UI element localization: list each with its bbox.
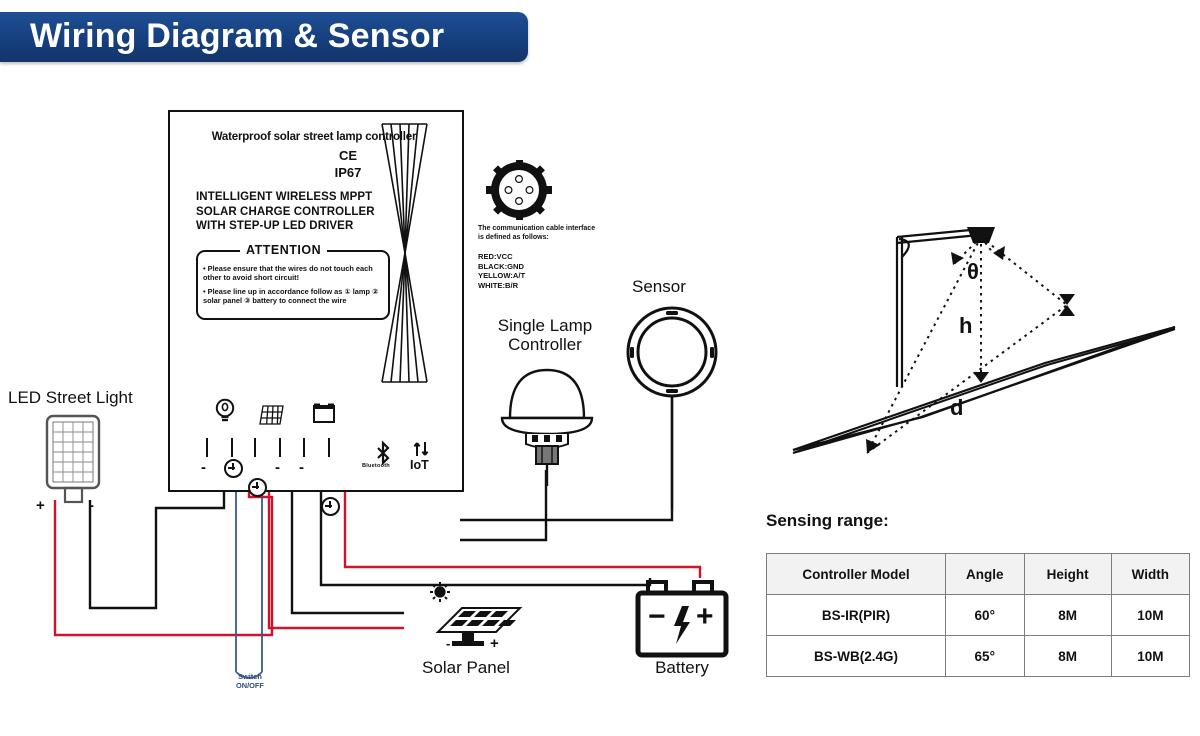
height-symbol: h [959,313,972,338]
column-header-height: Height [1024,554,1111,595]
column-header-angle: Angle [946,554,1025,595]
twisted-cable-illustration [378,122,432,384]
led-street-light-label: LED Street Light [8,388,133,408]
iot-arrows-icon [412,441,432,457]
svg-text:−: − [648,600,666,633]
angle-symbol: θ [967,259,979,284]
lamp-icon [212,398,238,424]
column-header-width: Width [1111,554,1189,595]
single-lamp-controller-label: Single Lamp Controller [480,316,610,354]
svg-text:+: + [490,635,499,652]
cell-height: 8M [1024,636,1111,677]
distance-symbol: d [950,395,963,420]
table-row: BS-IR(PIR) 60° 8M 10M [767,595,1190,636]
led-positive-sign: + [36,497,45,514]
lamp-negative-sign: - [201,463,206,473]
table-row: BS-WB(2.4G) 65° 8M 10M [767,636,1190,677]
bluetooth-glyph [374,442,392,464]
cell-angle: 65° [946,636,1025,677]
solar-panel-illustration: - + [404,582,526,660]
battery-negative-sign: - [299,463,304,473]
battery-icon [311,400,337,426]
svg-text:+: + [696,600,714,633]
terminal-pin [328,438,330,457]
solar-panel-label: Solar Panel [404,658,528,678]
cell-model: BS-IR(PIR) [767,595,946,636]
cell-width: 10M [1111,636,1189,677]
cell-angle: 60° [946,595,1025,636]
sensing-range-diagram: θ h d [775,205,1190,490]
solar-panel-icon [259,402,285,428]
sensor-label: Sensor [632,277,686,297]
attention-heading: ATTENTION [240,243,327,257]
controller-spec-text: INTELLIGENT WIRELESS MPPT SOLAR CHARGE C… [196,190,375,234]
switch-label: Switch ON/OFF [216,672,284,690]
communication-connector-icon [486,160,552,220]
attention-item-1: • Please ensure that the wires do not to… [203,264,381,283]
solar-positive-screw [248,478,267,497]
battery-illustration: − + [634,578,730,660]
terminal-pin [254,438,256,457]
battery-label: Battery [630,658,734,678]
sensing-range-title: Sensing range: [766,511,889,531]
table-header-row: Controller Model Angle Height Width [767,554,1190,595]
cell-model: BS-WB(2.4G) [767,636,946,677]
iot-label: IoT [410,458,429,472]
single-lamp-controller-icon [492,356,602,486]
column-header-model: Controller Model [767,554,946,595]
led-street-light-icon [45,414,101,492]
solar-negative-sign: - [275,463,280,473]
attention-item-2: • Please line up in accordance follow as… [203,287,381,306]
cell-width: 10M [1111,595,1189,636]
comm-cable-legend: RED:VCC BLACK:GND YELLOW:A/T WHITE:B/R [478,252,525,290]
cell-height: 8M [1024,595,1111,636]
sensor-icon [624,300,724,510]
svg-text:-: - [446,636,450,651]
sensing-range-table: Controller Model Angle Height Width BS-I… [766,553,1190,677]
battery-positive-screw [321,497,340,516]
terminal-pin [303,438,305,457]
terminal-pin [206,438,208,457]
terminal-pin [231,438,233,457]
terminal-pin [279,438,281,457]
attention-body: • Please ensure that the wires do not to… [203,264,381,310]
lamp-positive-screw [224,459,243,478]
led-negative-sign: - [89,497,94,514]
bluetooth-label: Bluetooth [362,463,390,469]
comm-cable-intro: The communication cable interface is def… [478,225,598,242]
